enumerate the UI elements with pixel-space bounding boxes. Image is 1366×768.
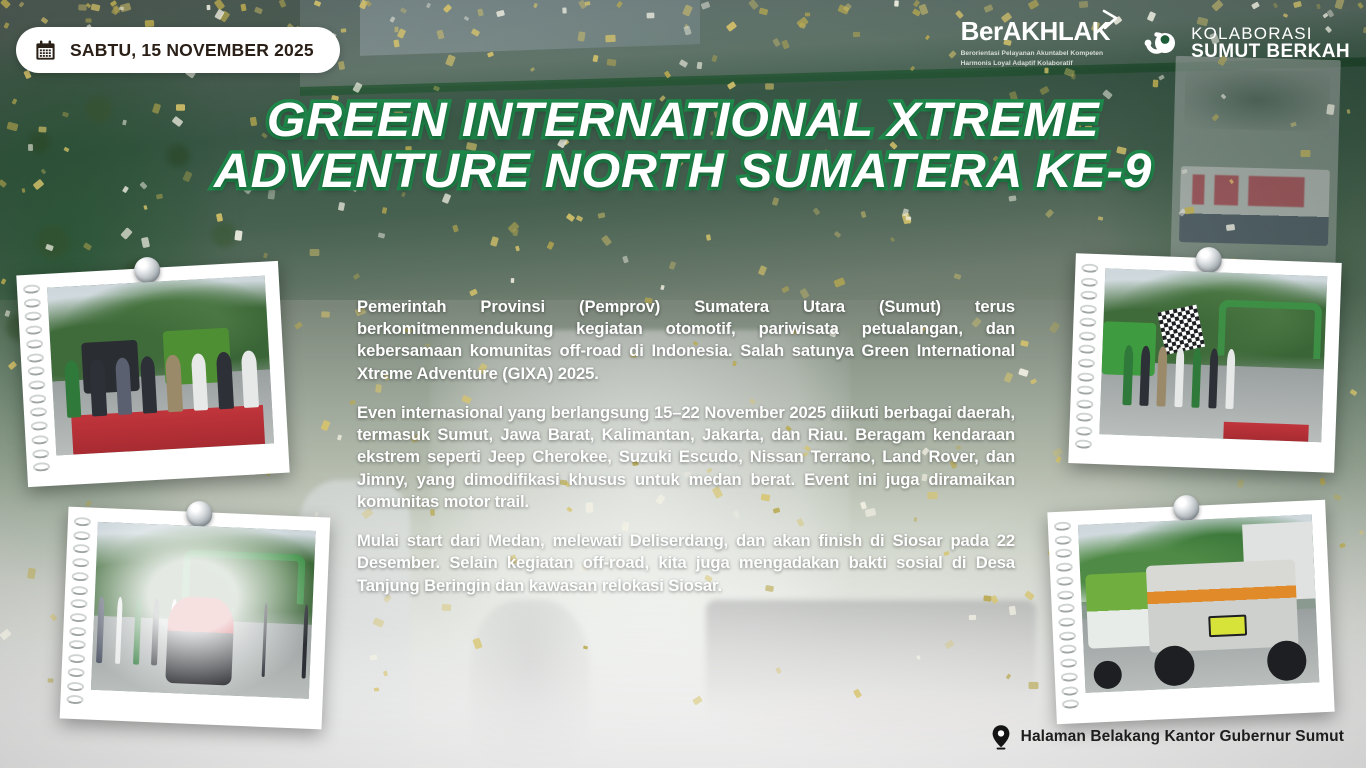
kolaborasi-line2: SUMUT BERKAH [1191,42,1350,61]
spiral-binding [23,284,52,477]
calendar-icon [34,39,57,62]
photo-image [47,276,274,456]
date-badge: SABTU, 15 NOVEMBER 2025 [16,27,340,73]
berakhlak-wordmark: BerAKHLAK [961,18,1111,44]
photo-pin-icon [1173,495,1200,522]
spiral-binding [1075,263,1100,454]
infinity-loop-icon [1134,28,1180,58]
swoosh-icon [1102,9,1119,31]
logo-group: BerAKHLAK Berorientasi Pelayanan Akuntab… [961,18,1350,68]
kolaborasi-line1: KOLABORASI [1191,25,1350,42]
photo-pin-icon [186,501,213,528]
photo-image [91,522,316,699]
photo-group-red-carpet[interactable] [16,261,289,487]
poster-canvas: SABTU, 15 NOVEMBER 2025 BerAKHLAK Berori… [0,0,1366,768]
paragraph-1: Pemerintah Provinsi (Pemprov) Sumatera U… [357,296,1015,385]
photo-offroad-vehicles[interactable] [1047,500,1334,724]
photo-image [1099,268,1327,442]
location-pin-icon [991,724,1011,750]
kolaborasi-logo: KOLABORASI SUMUT BERKAH [1134,25,1350,62]
location-text: Halaman Belakang Kantor Gubernur Sumut [1021,728,1344,746]
article-body: Pemerintah Provinsi (Pemprov) Sumatera U… [357,296,1015,597]
berakhlak-logo: BerAKHLAK Berorientasi Pelayanan Akuntab… [961,18,1111,68]
berakhlak-tagline: Berorientasi Pelayanan Akuntabel Kompete… [961,49,1111,68]
photo-pin-icon [1195,247,1222,274]
photo-image [1078,514,1319,692]
paragraph-3: Mulai start dari Medan, melewati Deliser… [357,530,1015,597]
photo-flag-off-gixa-arch[interactable] [1068,253,1342,473]
date-text: SABTU, 15 NOVEMBER 2025 [70,40,314,61]
paragraph-2: Even internasional yang berlangsung 15–2… [357,402,1015,513]
photo-motorcycle-start[interactable] [60,507,331,730]
photo-pin-icon [133,256,160,283]
berakhlak-tagline-line2: Harmonis Loyal Adaptif Kolaboratif [961,59,1111,69]
berakhlak-tagline-line1: Berorientasi Pelayanan Akuntabel Kompete… [961,49,1111,59]
spiral-binding [1054,521,1081,714]
location-footer: Halaman Belakang Kantor Gubernur Sumut [991,724,1344,750]
spiral-binding [66,517,92,710]
kolaborasi-wordmark: KOLABORASI SUMUT BERKAH [1191,25,1350,62]
